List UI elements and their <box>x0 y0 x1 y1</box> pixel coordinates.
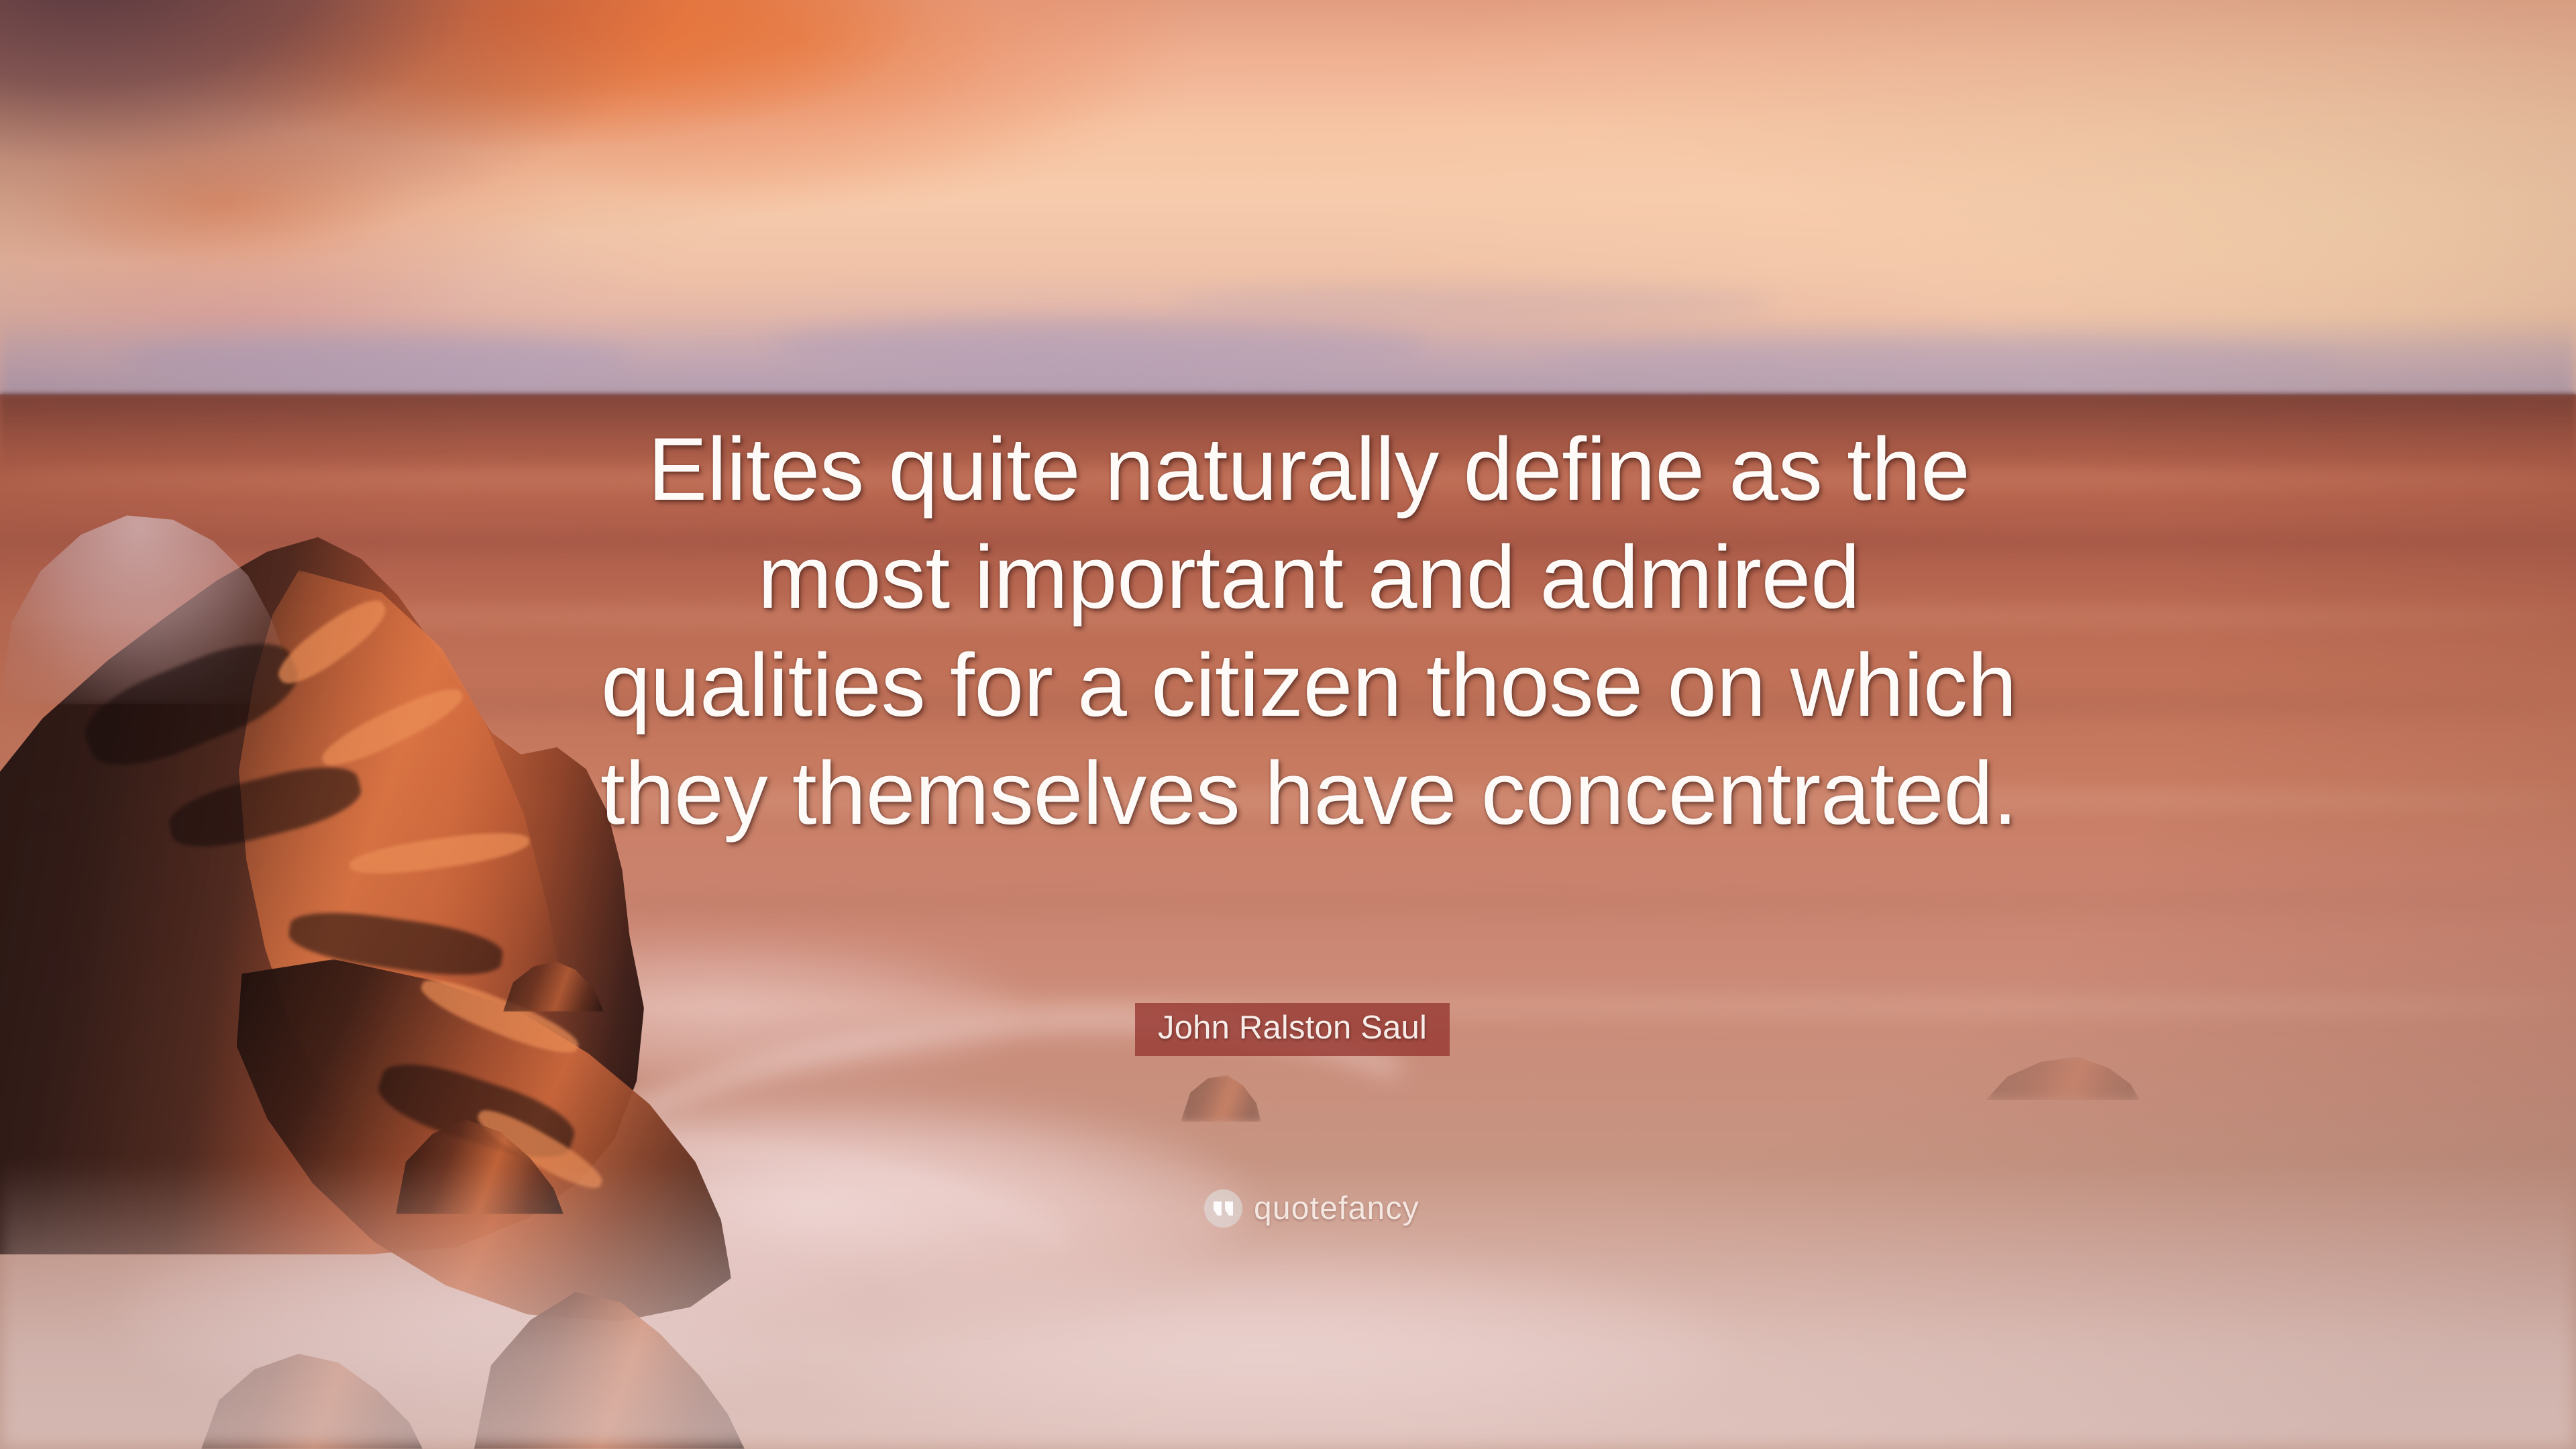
cloud-wisp <box>771 319 1429 374</box>
quote-mark-glyph-right <box>1225 1201 1233 1216</box>
quote-line-1: Elites quite naturally define as the <box>560 416 2057 524</box>
brand-label: quotefancy <box>1254 1193 1419 1225</box>
quote-line-3: qualities for a citizen those on which <box>560 632 2057 740</box>
cloud-wisp <box>121 335 631 382</box>
author-name-badge[interactable]: John Ralston Saul <box>1135 1003 1450 1056</box>
quotefancy-watermark[interactable]: quotefancy <box>1204 1189 1419 1228</box>
quote-marks-icon <box>1204 1189 1242 1228</box>
cloud-wisp <box>1174 285 1778 320</box>
quote-line-2: most important and admired <box>560 524 2057 632</box>
quote-wallpaper: Elites quite naturally define as the mos… <box>0 0 2576 1449</box>
quote-text: Elites quite naturally define as the mos… <box>560 416 2057 848</box>
cloud-wisp <box>1543 339 2348 383</box>
horizon-line <box>0 393 2576 396</box>
quote-line-4: they themselves have concentrated. <box>560 740 2057 848</box>
quote-mark-glyph-left <box>1214 1201 1222 1216</box>
